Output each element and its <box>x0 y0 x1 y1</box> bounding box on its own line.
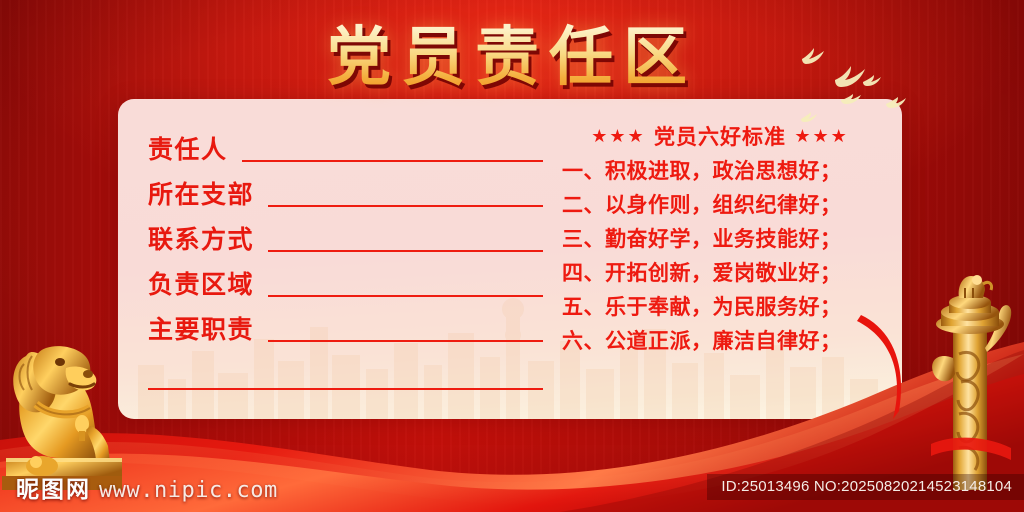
form-label-responsible-person: 责任人 <box>148 137 228 166</box>
guardian-lion-statue <box>2 300 122 490</box>
red-arc-decoration <box>855 315 915 420</box>
standard-item: 二、以身作则，组织纪律好； <box>562 195 890 216</box>
form-label-contact: 联系方式 <box>148 227 254 256</box>
form-label-area: 负责区域 <box>148 272 254 301</box>
poster-canvas: 党员责任区 <box>0 0 1024 512</box>
standard-item: 三、勤奋好学，业务技能好； <box>562 229 890 250</box>
form-blank-line[interactable] <box>242 160 543 162</box>
watermark-site-name: 昵图网 <box>16 470 91 504</box>
form-row: 责任人 <box>148 121 543 166</box>
form-row: 所在支部 <box>148 166 543 211</box>
form-blank-line[interactable] <box>268 295 543 297</box>
poster-title: 党员责任区 <box>327 6 697 98</box>
poster-title-area: 党员责任区 <box>0 8 1024 96</box>
form-row: 负责区域 <box>148 256 543 301</box>
standards-heading: ★★★ 党员六好标准 ★★★ <box>550 121 890 151</box>
form-label-branch: 所在支部 <box>148 182 254 211</box>
dove-icon <box>800 111 818 123</box>
huabiao-pillar-statue <box>925 268 1017 490</box>
standard-item: 四、开拓创新，爱岗敬业好； <box>562 263 890 284</box>
site-watermark: 昵图网 www.nipic.com <box>16 470 278 504</box>
form-blank-line[interactable] <box>268 205 543 207</box>
stars-right-icon: ★★★ <box>794 126 848 147</box>
standard-item: 一、积极进取，政治思想好； <box>562 161 890 182</box>
form-row: 联系方式 <box>148 211 543 256</box>
standard-item: 五、乐于奉献，为民服务好； <box>562 297 890 318</box>
dove-icon <box>885 95 907 109</box>
image-id-label: ID:25013496 NO:20250820214523148104 <box>707 474 1024 500</box>
form-blank-line[interactable] <box>268 250 543 252</box>
standards-heading-text: 党员六好标准 <box>654 125 786 149</box>
watermark-site-url: www.nipic.com <box>99 478 278 503</box>
stars-left-icon: ★★★ <box>591 126 645 147</box>
